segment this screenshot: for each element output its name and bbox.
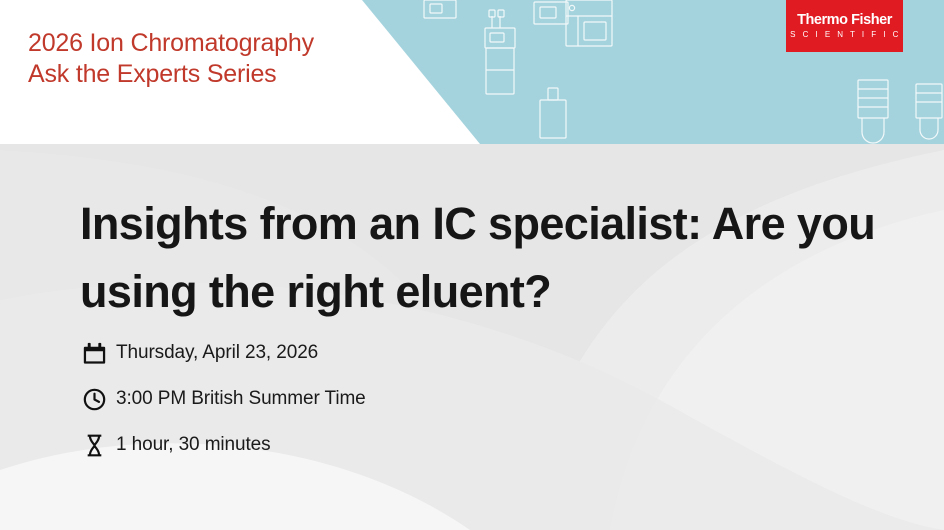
logo-tagline: S C I E N T I F I C	[788, 29, 901, 40]
clock-icon	[78, 383, 110, 415]
webinar-title-slide: 2026 Ion Chromatography Ask the Experts …	[0, 0, 944, 530]
hourglass-icon	[78, 429, 110, 461]
calendar-icon	[78, 337, 110, 369]
page-title: Insights from an IC specialist: Are you …	[80, 190, 890, 326]
detail-row: 3:00 PM British Summer Time	[78, 376, 366, 422]
webinar-time: 3:00 PM British Summer Time	[116, 388, 366, 410]
webinar-date: Thursday, April 23, 2026	[116, 342, 318, 364]
detail-row: Thursday, April 23, 2026	[78, 330, 366, 376]
header-banner: 2026 Ion Chromatography Ask the Experts …	[0, 0, 944, 144]
webinar-duration: 1 hour, 30 minutes	[116, 434, 271, 456]
logo-wordmark: Thermo Fisher	[797, 13, 892, 28]
thermo-fisher-logo: Thermo Fisher S C I E N T I F I C	[786, 0, 903, 52]
webinar-details: Thursday, April 23, 2026 3:00 PM British…	[78, 330, 366, 468]
detail-row: 1 hour, 30 minutes	[78, 422, 366, 468]
series-title: 2026 Ion Chromatography Ask the Experts …	[28, 28, 314, 90]
